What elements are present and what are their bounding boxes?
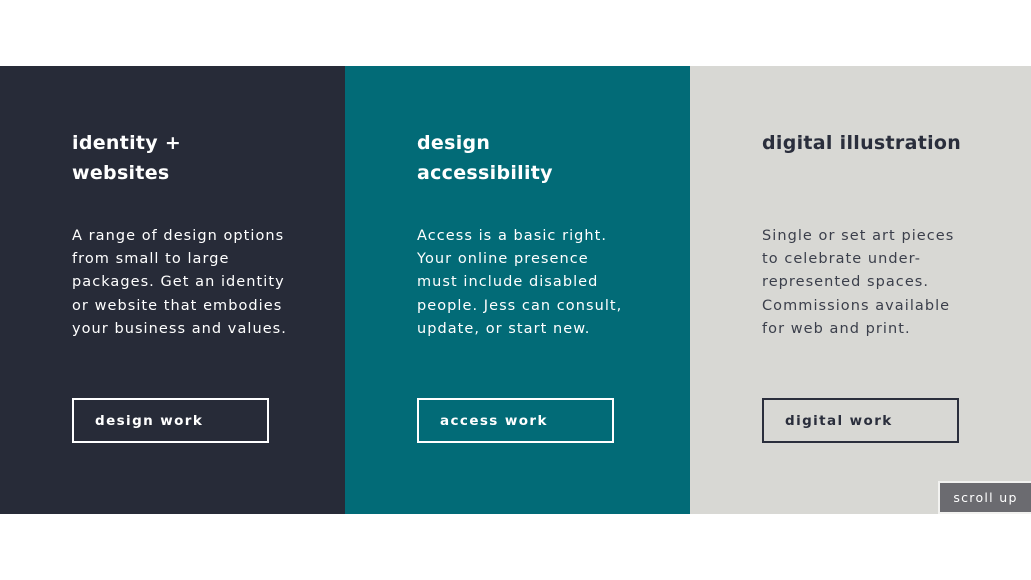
panel-heading: design accessibility [417, 128, 553, 188]
digital-work-button[interactable]: digital work [762, 398, 959, 443]
panel-body-text: A range of design options from small to … [72, 225, 287, 341]
design-work-button[interactable]: design work [72, 398, 269, 443]
panel-body-text: Access is a basic right. Your online pre… [417, 225, 632, 341]
page-root: identity + websites A range of design op… [0, 0, 1031, 580]
panel-design-accessibility: design accessibility Access is a basic r… [345, 66, 690, 514]
panel-body-text: Single or set art pieces to celebrate un… [762, 225, 962, 341]
panel-heading: identity + websites [72, 128, 181, 188]
access-work-button[interactable]: access work [417, 398, 614, 443]
scroll-up-button[interactable]: scroll up [938, 481, 1031, 514]
panel-digital-illustration: digital illustration Single or set art p… [690, 66, 1031, 514]
service-panels: identity + websites A range of design op… [0, 66, 1031, 514]
panel-identity-websites: identity + websites A range of design op… [0, 66, 345, 514]
panel-heading: digital illustration [762, 128, 961, 158]
